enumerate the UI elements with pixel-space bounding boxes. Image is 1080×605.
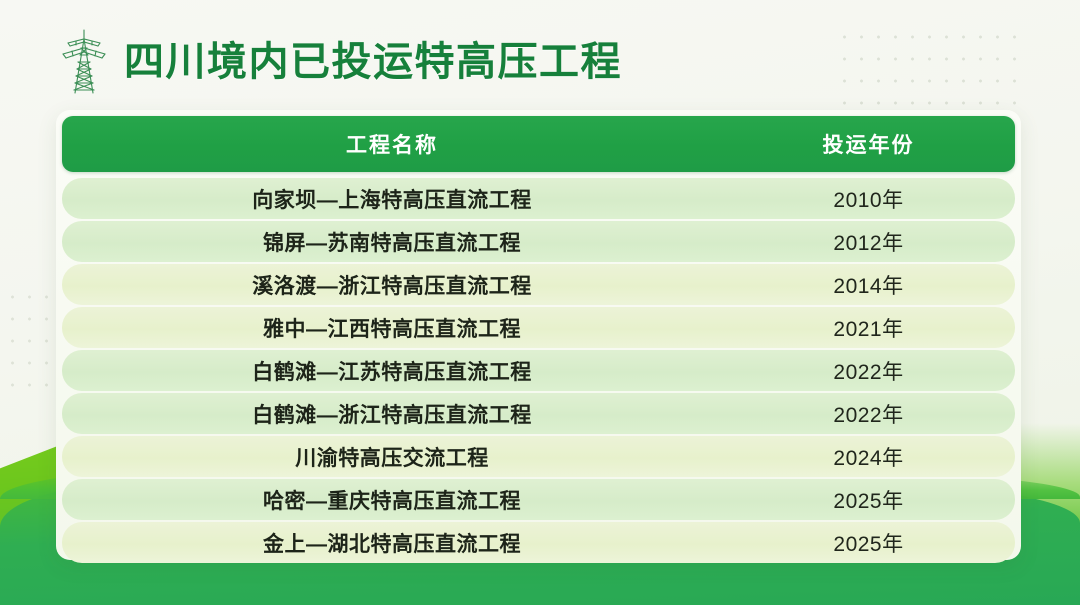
cell-project-name: 川渝特高压交流工程	[62, 442, 722, 472]
table-row[interactable]: 哈密—重庆特高压直流工程 2025年	[62, 479, 1015, 520]
cell-year: 2014年	[722, 270, 1015, 300]
transmission-tower-icon	[56, 27, 112, 97]
dot-pattern-top-right	[836, 26, 1018, 118]
cell-year: 2022年	[722, 356, 1015, 386]
table-row[interactable]: 川渝特高压交流工程 2024年	[62, 436, 1015, 477]
cell-project-name: 白鹤滩—江苏特高压直流工程	[62, 356, 722, 386]
cell-year: 2024年	[722, 442, 1015, 472]
cell-year: 2021年	[722, 313, 1015, 343]
table-row[interactable]: 锦屏—苏南特高压直流工程 2012年	[62, 221, 1015, 262]
cell-project-name: 溪洛渡—浙江特高压直流工程	[62, 270, 722, 300]
page-title: 四川境内已投运特高压工程	[124, 42, 622, 82]
table-header-row: 工程名称 投运年份	[62, 116, 1015, 172]
title-block: 四川境内已投运特高压工程	[56, 26, 622, 98]
table-row[interactable]: 白鹤滩—江苏特高压直流工程 2022年	[62, 350, 1015, 391]
cell-project-name: 哈密—重庆特高压直流工程	[62, 485, 722, 515]
table-row[interactable]: 溪洛渡—浙江特高压直流工程 2014年	[62, 264, 1015, 305]
cell-year: 2025年	[722, 485, 1015, 515]
column-header-project-name: 工程名称	[62, 129, 722, 159]
table-row[interactable]: 向家坝—上海特高压直流工程 2010年	[62, 178, 1015, 219]
cell-project-name: 锦屏—苏南特高压直流工程	[62, 227, 722, 257]
cell-year: 2025年	[722, 528, 1015, 558]
cell-year: 2012年	[722, 227, 1015, 257]
cell-year: 2022年	[722, 399, 1015, 429]
table-row[interactable]: 金上—湖北特高压直流工程 2025年	[62, 522, 1015, 563]
table-row[interactable]: 雅中—江西特高压直流工程 2021年	[62, 307, 1015, 348]
column-header-year: 投运年份	[722, 129, 1015, 159]
table-row[interactable]: 白鹤滩—浙江特高压直流工程 2022年	[62, 393, 1015, 434]
table-card: 工程名称 投运年份 向家坝—上海特高压直流工程 2010年 锦屏—苏南特高压直流…	[56, 110, 1021, 560]
cell-project-name: 向家坝—上海特高压直流工程	[62, 184, 722, 214]
cell-year: 2010年	[722, 184, 1015, 214]
cell-project-name: 雅中—江西特高压直流工程	[62, 313, 722, 343]
cell-project-name: 白鹤滩—浙江特高压直流工程	[62, 399, 722, 429]
table-body: 向家坝—上海特高压直流工程 2010年 锦屏—苏南特高压直流工程 2012年 溪…	[62, 178, 1015, 563]
cell-project-name: 金上—湖北特高压直流工程	[62, 528, 722, 558]
slide-canvas: 四川境内已投运特高压工程 工程名称 投运年份 向家坝—上海特高压直流工程 201…	[0, 0, 1080, 605]
